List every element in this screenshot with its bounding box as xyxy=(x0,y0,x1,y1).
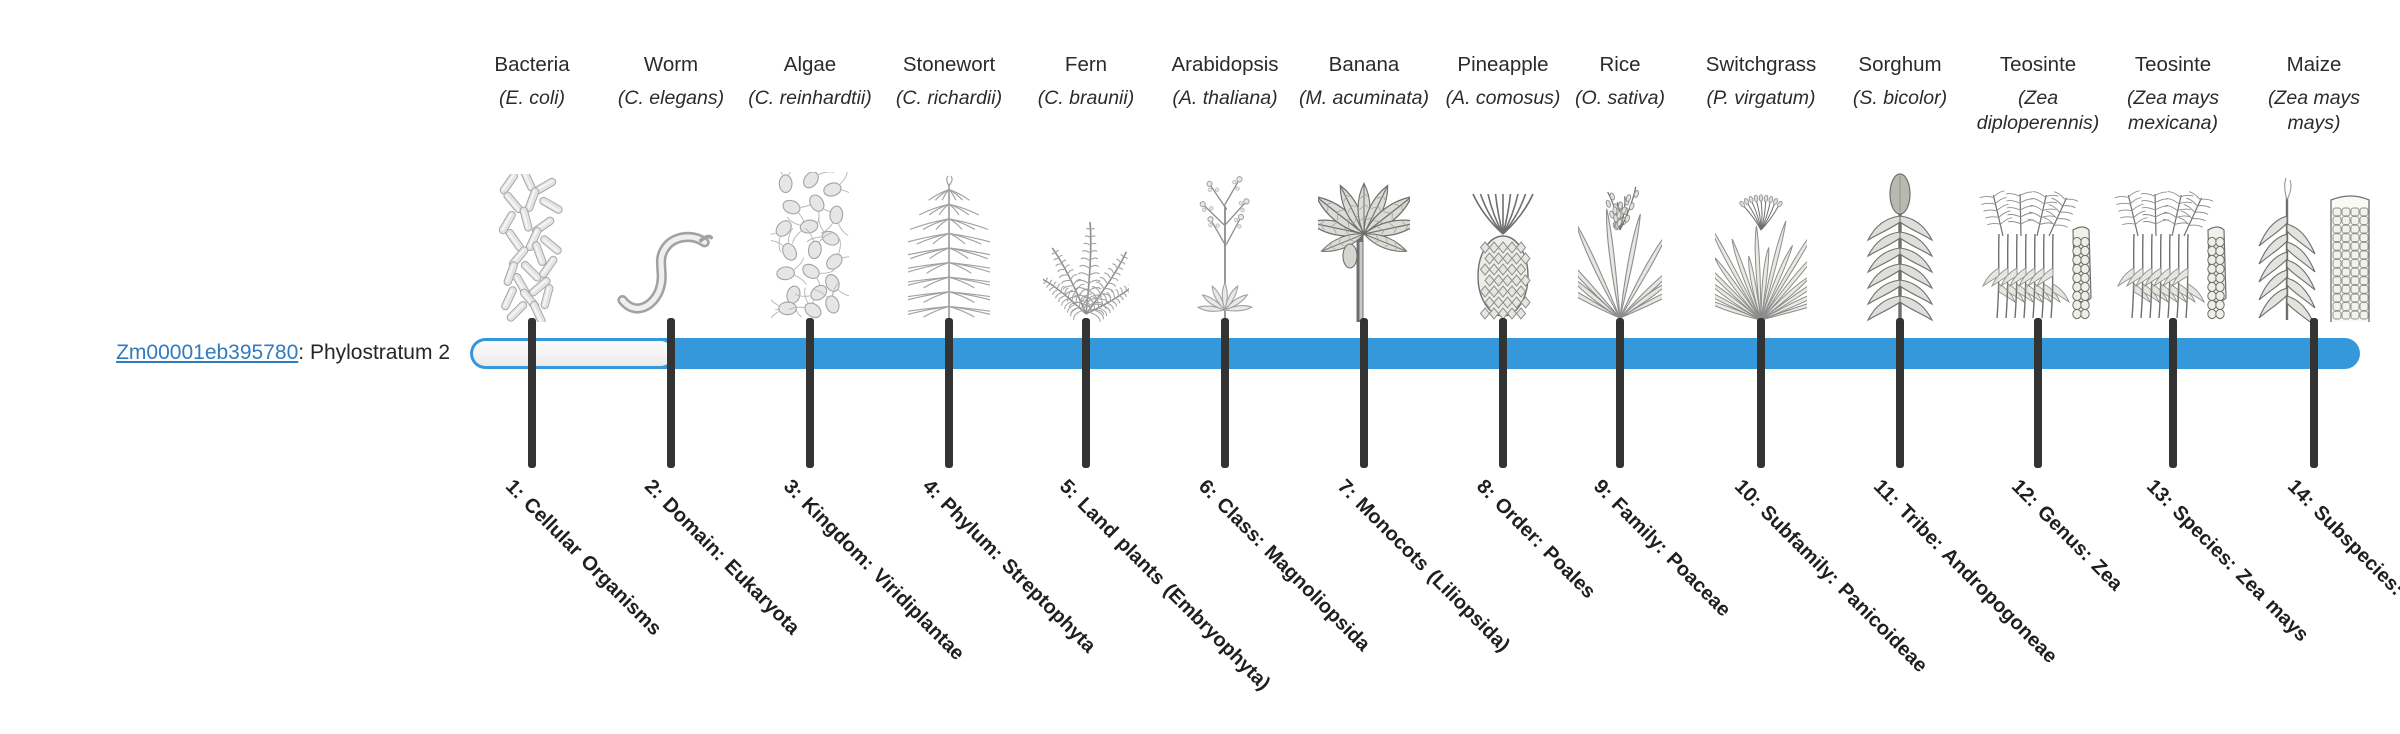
fern-icon xyxy=(1017,172,1156,322)
organism-column: Rice(O. sativa) xyxy=(1551,52,1690,136)
organism-column: Fern(C. braunii) xyxy=(1017,52,1156,136)
node-tick xyxy=(945,318,953,468)
rice-icon xyxy=(1551,172,1690,322)
organism-column: Stonewort(C. richardii) xyxy=(880,52,1019,136)
node-tick xyxy=(2034,318,2042,468)
node-tick xyxy=(1360,318,1368,468)
organism-common-name: Worm xyxy=(602,52,741,78)
sorghum-icon xyxy=(1831,172,1970,322)
organism-latin-name: (S. bicolor) xyxy=(1831,86,1970,136)
node-tick xyxy=(1221,318,1229,468)
organism-common-name: Bacteria xyxy=(463,52,602,78)
organism-common-name: Switchgrass xyxy=(1692,52,1831,78)
node-tick xyxy=(667,318,675,468)
organism-column: Sorghum(S. bicolor) xyxy=(1831,52,1970,136)
teosinte-icon xyxy=(1969,172,2108,322)
bacteria-icon xyxy=(463,172,602,322)
phylostratum-bar[interactable] xyxy=(470,338,2360,369)
organism-latin-name: (A. thaliana) xyxy=(1156,86,1295,136)
phylostratum-bar-empty-segment xyxy=(473,341,673,366)
organism-latin-name: (Zea mays mexicana) xyxy=(2104,86,2243,136)
organism-latin-name: (C. elegans) xyxy=(602,86,741,136)
organism-common-name: Teosinte xyxy=(1969,52,2108,78)
stonewort-icon xyxy=(880,172,1019,322)
node-tick xyxy=(1499,318,1507,468)
node-tick xyxy=(806,318,814,468)
organism-column: Worm(C. elegans) xyxy=(602,52,741,136)
organism-common-name: Rice xyxy=(1551,52,1690,78)
organism-column: Maize(Zea mays mays) xyxy=(2245,52,2384,136)
organism-common-name: Fern xyxy=(1017,52,1156,78)
maize-icon xyxy=(2245,172,2384,322)
organism-common-name: Maize xyxy=(2245,52,2384,78)
organism-common-name: Algae xyxy=(741,52,880,78)
worm-icon xyxy=(602,172,741,322)
organism-latin-name: (E. coli) xyxy=(463,86,602,136)
organism-column: Arabidopsis(A. thaliana) xyxy=(1156,52,1295,136)
node-tick xyxy=(2310,318,2318,468)
organism-common-name: Teosinte xyxy=(2104,52,2243,78)
organism-column: Switchgrass(P. virgatum) xyxy=(1692,52,1831,136)
algae-icon xyxy=(741,172,880,322)
organism-latin-name: (M. acuminata) xyxy=(1295,86,1434,136)
organism-column: Teosinte(Zea diploperennis) xyxy=(1969,52,2108,136)
organism-latin-name: (P. virgatum) xyxy=(1692,86,1831,136)
node-tick xyxy=(528,318,536,468)
organism-column: Banana(M. acuminata) xyxy=(1295,52,1434,136)
teosinte-icon xyxy=(2104,172,2243,322)
organism-column: Algae(C. reinhardtii) xyxy=(741,52,880,136)
banana-icon xyxy=(1295,172,1434,322)
node-tick xyxy=(1896,318,1904,468)
organism-latin-name: (Zea diploperennis) xyxy=(1969,86,2108,136)
organism-common-name: Arabidopsis xyxy=(1156,52,1295,78)
phylostratigraphy-figure: Zm00001eb395780: Phylostratum 2 Bacteria… xyxy=(0,0,2400,580)
switchgrass-icon xyxy=(1692,172,1831,322)
node-tick xyxy=(1757,318,1765,468)
organism-latin-name: (C. reinhardtii) xyxy=(741,86,880,136)
node-tick xyxy=(1082,318,1090,468)
organism-latin-name: (O. sativa) xyxy=(1551,86,1690,136)
organism-latin-name: (C. richardii) xyxy=(880,86,1019,136)
node-tick xyxy=(2169,318,2177,468)
organism-common-name: Sorghum xyxy=(1831,52,1970,78)
organism-column: Bacteria(E. coli) xyxy=(463,52,602,136)
node-tick xyxy=(1616,318,1624,468)
organism-common-name: Stonewort xyxy=(880,52,1019,78)
arabidopsis-icon xyxy=(1156,172,1295,322)
organism-latin-name: (C. braunii) xyxy=(1017,86,1156,136)
organism-latin-name: (Zea mays mays) xyxy=(2245,86,2384,136)
organism-common-name: Banana xyxy=(1295,52,1434,78)
organism-column: Teosinte(Zea mays mexicana) xyxy=(2104,52,2243,136)
